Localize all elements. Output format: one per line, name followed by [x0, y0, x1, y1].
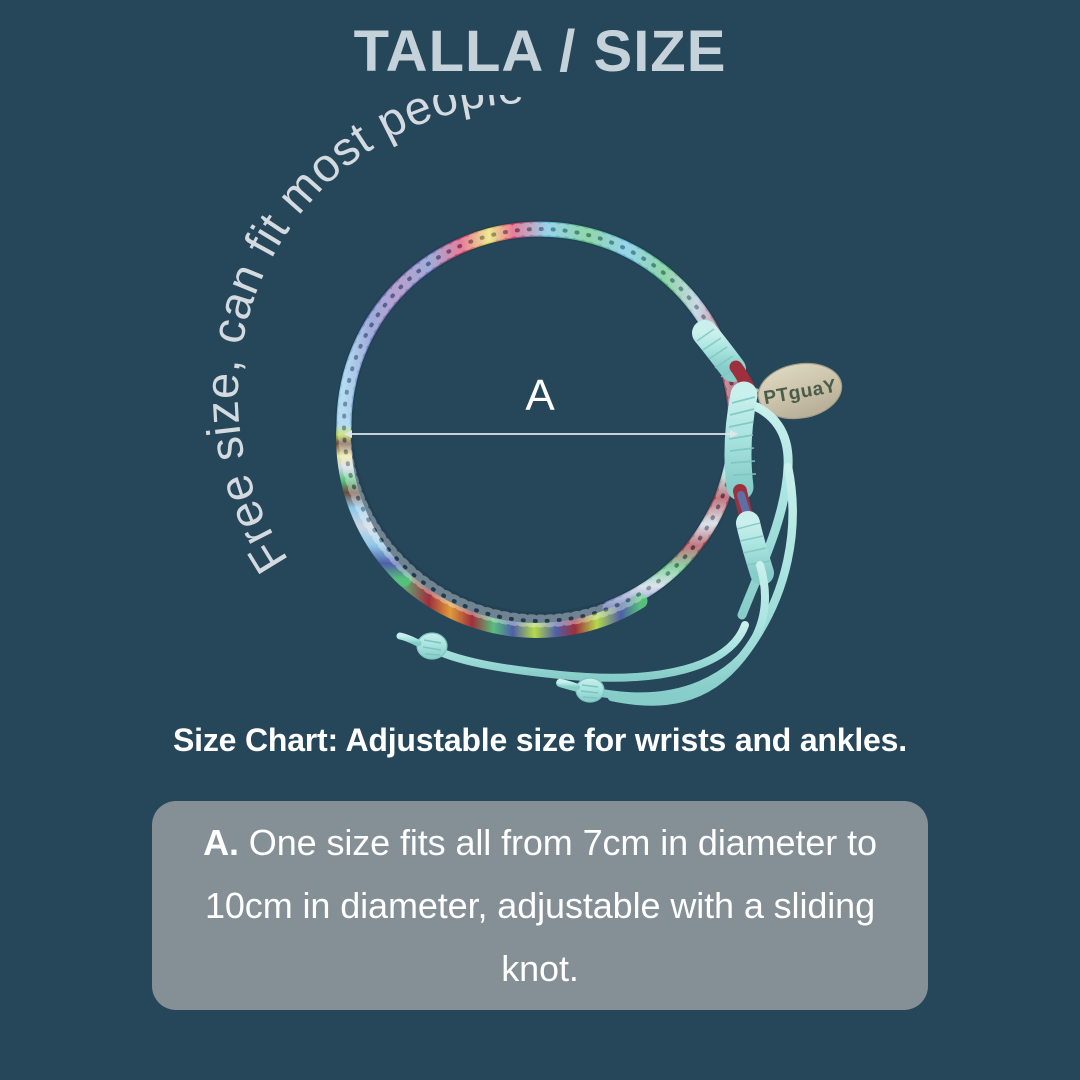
- size-chart-page: TALLA / SIZE: [0, 0, 1080, 1080]
- info-panel-body: One size fits all from 7cm in diameter t…: [205, 822, 877, 989]
- page-title: TALLA / SIZE: [0, 22, 1080, 83]
- cord-left-sweep: [430, 625, 745, 678]
- adjustable-cords: [400, 467, 793, 702]
- bracelet-loop: [344, 229, 736, 630]
- dimension-label: A: [525, 371, 555, 420]
- dimension-indicator: A: [352, 371, 730, 434]
- cord-end-knot-bottom: [560, 678, 604, 702]
- sliding-knot: [738, 395, 744, 487]
- cord-end-knot-left: [400, 633, 447, 659]
- info-panel-lead: A.: [203, 822, 239, 863]
- weave-texture: [344, 229, 736, 621]
- bracelet-illustration: Free size, can fit most people: [0, 95, 1080, 720]
- info-panel: A. One size fits all from 7cm in diamete…: [152, 801, 928, 1010]
- sliding-knot-assembly: PTguaY: [697, 329, 846, 615]
- info-panel-text: A. One size fits all from 7cm in diamete…: [186, 811, 894, 1000]
- size-chart-caption: Size Chart: Adjustable size for wrists a…: [0, 722, 1080, 759]
